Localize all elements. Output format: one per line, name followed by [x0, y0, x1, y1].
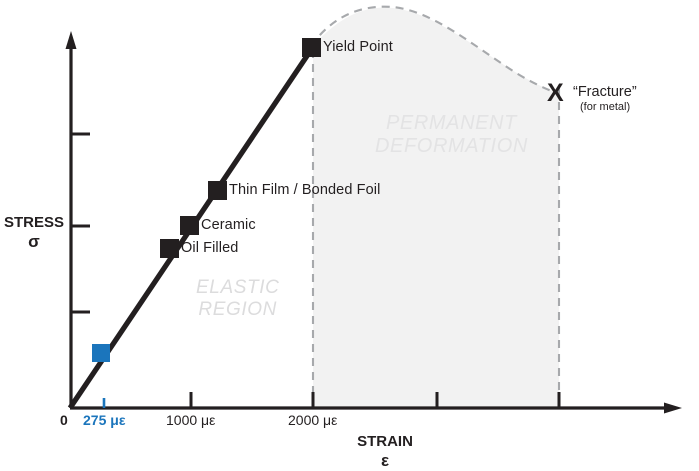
x-tick-label-1000: 1000 με: [166, 412, 215, 428]
marker-275-blue: [92, 344, 110, 362]
permanent-deformation-line1: PERMANENT: [375, 112, 528, 135]
point-label-thin-film: Thin Film / Bonded Foil: [229, 182, 380, 198]
marker-ceramic: [180, 216, 199, 235]
y-axis-title: STRESS σ: [3, 215, 65, 251]
marker-thin-film: [208, 181, 227, 200]
point-label-yield-point: Yield Point: [323, 39, 393, 55]
elastic-region-label: ELASTIC REGION: [196, 277, 279, 321]
y-axis-title-text: STRESS: [4, 214, 64, 231]
point-label-oil-filled: Oil Filled: [181, 240, 238, 256]
fracture-label: “Fracture”: [573, 84, 637, 100]
x-axis-title: STRAIN ε: [335, 434, 435, 470]
marker-oil-filled: [160, 239, 179, 258]
y-axis-arrowhead: [66, 31, 77, 49]
x-tick-label-zero: 0: [60, 412, 68, 428]
y-axis-symbol: σ: [3, 232, 65, 251]
fracture-sublabel: (for metal): [580, 101, 630, 113]
x-tick-label-2000: 2000 με: [288, 412, 337, 428]
permanent-deformation-line2: DEFORMATION: [375, 135, 528, 158]
fracture-x-icon: X: [547, 81, 564, 106]
point-label-ceramic: Ceramic: [201, 217, 256, 233]
marker-yield-point: [302, 38, 321, 57]
x-axis-arrowhead: [664, 403, 682, 414]
permanent-deformation-label: PERMANENT DEFORMATION: [375, 112, 528, 158]
x-axis-title-text: STRAIN: [357, 433, 413, 450]
elastic-region-line2: REGION: [196, 299, 279, 321]
x-tick-label-275: 275 με: [83, 412, 125, 428]
x-axis-symbol: ε: [335, 451, 435, 470]
permanent-deformation-shading: [313, 8, 559, 408]
stress-strain-chart: Oil Filled Ceramic Thin Film / Bonded Fo…: [0, 0, 699, 471]
elastic-region-line1: ELASTIC: [196, 277, 279, 299]
chart-canvas: [0, 0, 699, 471]
